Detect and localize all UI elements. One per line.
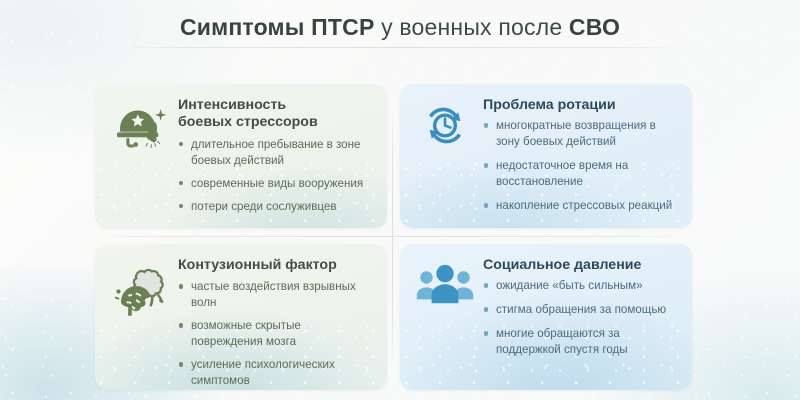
card-bullet-list: частые воздействия взрывных волн возможн… (178, 279, 374, 389)
military-helmet-bullet-icon (108, 96, 172, 218)
list-item: длительное пребывание в зоне боевых дейс… (178, 137, 374, 169)
title-divider (118, 47, 682, 48)
card-concussion-factor[interactable]: Контузионный фактор частые воздействия в… (95, 244, 387, 390)
card-bullet-list: многократные возвращения в зону боевых д… (483, 118, 679, 214)
page-title-emphasis-2: СВО (569, 14, 620, 40)
card-rotation-problem[interactable]: Проблема ротации многократные возвращени… (400, 84, 692, 228)
people-group-icon (413, 256, 477, 380)
card-title-line1: Интенсивность (178, 97, 286, 113)
card-combat-stressors[interactable]: Интенсивность боевых стрессоров длительн… (95, 84, 387, 228)
cards-grid: Интенсивность боевых стрессоров длительн… (95, 84, 691, 390)
card-body: Интенсивность боевых стрессоров длительн… (178, 96, 374, 218)
list-item: частые воздействия взрывных волн (178, 279, 374, 311)
page-title: Симптомы ПТСР у военных после СВО (0, 14, 800, 41)
clock-rotation-icon (413, 96, 477, 218)
list-item: многократные возвращения в зону боевых д… (483, 118, 679, 150)
card-social-pressure[interactable]: Социальное давление ожидание «быть сильн… (400, 244, 692, 390)
card-body: Социальное давление ожидание «быть сильн… (483, 256, 679, 380)
list-item: стигма обращения за помощью (483, 302, 679, 318)
page-header: Симптомы ПТСР у военных после СВО (0, 14, 800, 41)
list-item: современные виды вооружения (178, 176, 374, 192)
list-item: ожидание «быть сильным» (483, 278, 679, 294)
card-title: Контузионный фактор (178, 257, 374, 274)
list-item: недостаточное время на восстановление (483, 158, 679, 190)
vertical-divider (392, 108, 393, 366)
card-title: Социальное давление (483, 257, 679, 274)
card-bullet-list: длительное пребывание в зоне боевых дейс… (178, 137, 374, 215)
page-title-middle: у военных после (375, 14, 569, 40)
card-title: Интенсивность боевых стрессоров (178, 97, 374, 132)
list-item: многие обращаются за поддержкой спустя г… (483, 326, 679, 358)
list-item: накопление стрессовых реакций (483, 198, 679, 214)
card-bullet-list: ожидание «быть сильным» стигма обращения… (483, 278, 679, 358)
brain-blast-icon (108, 256, 172, 380)
card-body: Проблема ротации многократные возвращени… (483, 96, 679, 218)
card-body: Контузионный фактор частые воздействия в… (178, 256, 374, 380)
horizontal-divider (103, 236, 683, 237)
card-title: Проблема ротации (483, 97, 679, 114)
page-title-emphasis-1: Симптомы ПТСР (180, 14, 375, 40)
card-title-line2: боевых стрессоров (178, 114, 318, 130)
list-item: возможные скрытые повреждения мозга (178, 318, 374, 350)
list-item: усиление психологических симптомов (178, 357, 374, 389)
list-item: потери среди сослуживцев (178, 199, 374, 215)
